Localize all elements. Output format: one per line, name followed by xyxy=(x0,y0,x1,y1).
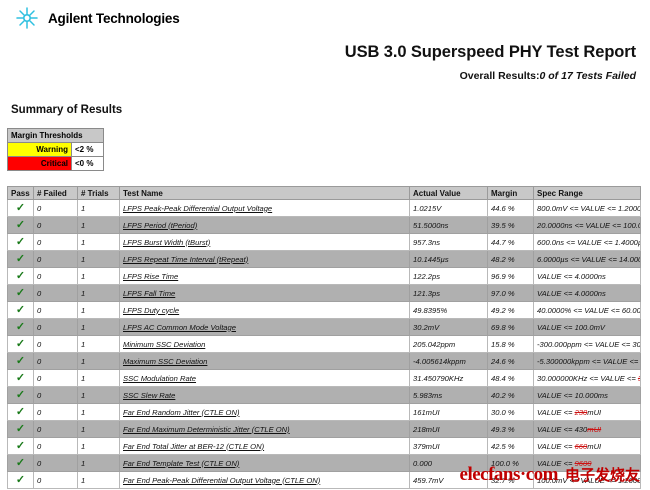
spec-range-cell: VALUE <= 100.0mV xyxy=(534,319,641,336)
test-name-cell: SSC Modulation Rate xyxy=(120,370,410,387)
actual-value-cell: -4.005614kppm xyxy=(410,353,488,370)
column-header-failed: # Failed xyxy=(34,187,78,200)
watermark-latin: elecfans·com xyxy=(460,464,558,486)
test-name-cell: LFPS Burst Width (tBurst) xyxy=(120,234,410,251)
trials-count-cell: 1 xyxy=(78,455,120,472)
actual-value-cell: 51.5000ns xyxy=(410,217,488,234)
failed-count-cell: 0 xyxy=(34,404,78,421)
green-check-icon: ✓ xyxy=(16,407,25,418)
test-name-link[interactable]: Minimum SSC Deviation xyxy=(123,340,205,349)
actual-value-cell: 5.983ms xyxy=(410,387,488,404)
table-row: ✓01LFPS Fall Time121.3ps97.0 %VALUE <= 4… xyxy=(8,285,641,302)
pass-cell: ✓ xyxy=(8,302,34,319)
legend-row-warning: Warning <2 % xyxy=(8,143,104,157)
margin-cell: 30.0 % xyxy=(488,404,534,421)
failed-count-cell: 0 xyxy=(34,251,78,268)
spec-range-cell: VALUE <= 430mUI xyxy=(534,421,641,438)
pass-cell: ✓ xyxy=(8,251,34,268)
margin-cell: 48.4 % xyxy=(488,370,534,387)
green-check-icon: ✓ xyxy=(16,441,25,452)
trials-count-cell: 1 xyxy=(78,421,120,438)
actual-value-cell: 1.0215V xyxy=(410,200,488,217)
table-row: ✓01Far End Total Jitter at BER-12 (CTLE … xyxy=(8,438,641,455)
margin-thresholds-legend: Margin Thresholds Warning <2 % Critical … xyxy=(7,128,104,171)
spec-range-struck-value: mUI xyxy=(587,425,601,434)
pass-cell: ✓ xyxy=(8,387,34,404)
trials-count-cell: 1 xyxy=(78,472,120,489)
test-name-link[interactable]: Far End Template Test (CTLE ON) xyxy=(123,459,239,468)
test-name-cell: SSC Slew Rate xyxy=(120,387,410,404)
actual-value-cell: 49.8395% xyxy=(410,302,488,319)
test-name-cell: LFPS Fall Time xyxy=(120,285,410,302)
column-header-spec-range: Spec Range xyxy=(534,187,641,200)
spec-range-cell: VALUE <= 4.0000ns xyxy=(534,268,641,285)
agilent-starburst-icon xyxy=(14,5,40,31)
failed-count-cell: 0 xyxy=(34,234,78,251)
legend-critical-label: Critical xyxy=(8,157,72,171)
spec-range-cell: VALUE <= 660mUI xyxy=(534,438,641,455)
spec-range-cell: VALUE <= 4.0000ns xyxy=(534,285,641,302)
failed-count-cell: 0 xyxy=(34,336,78,353)
test-name-cell: LFPS Duty cycle xyxy=(120,302,410,319)
test-name-link[interactable]: LFPS AC Common Mode Voltage xyxy=(123,323,236,332)
spec-range-cell: 30.000000KHz <= VALUE <= 33.000000KHz xyxy=(534,370,641,387)
overall-results-value: 0 of 17 Tests Failed xyxy=(540,70,636,82)
column-header-margin: Margin xyxy=(488,187,534,200)
failed-count-cell: 0 xyxy=(34,200,78,217)
spec-range-cell: 600.0ns <= VALUE <= 1.4000µs xyxy=(534,234,641,251)
green-check-icon: ✓ xyxy=(16,203,25,214)
actual-value-cell: 122.2ps xyxy=(410,268,488,285)
failed-count-cell: 0 xyxy=(34,319,78,336)
test-name-cell: LFPS Rise Time xyxy=(120,268,410,285)
spec-range-cell: 6.0000µs <= VALUE <= 14.0000µs xyxy=(534,251,641,268)
table-row: ✓01Minimum SSC Deviation205.042ppm15.8 %… xyxy=(8,336,641,353)
results-body: ✓01LFPS Peak-Peak Differential Output Vo… xyxy=(8,200,641,489)
actual-value-cell: 31.450790KHz xyxy=(410,370,488,387)
trials-count-cell: 1 xyxy=(78,353,120,370)
column-header-actual-value: Actual Value xyxy=(410,187,488,200)
failed-count-cell: 0 xyxy=(34,438,78,455)
trials-count-cell: 1 xyxy=(78,268,120,285)
test-name-cell: Far End Total Jitter at BER-12 (CTLE ON) xyxy=(120,438,410,455)
legend-title: Margin Thresholds xyxy=(8,129,104,143)
table-row: ✓01SSC Slew Rate5.983ms40.2 %VALUE <= 10… xyxy=(8,387,641,404)
pass-cell: ✓ xyxy=(8,336,34,353)
table-row: ✓01LFPS Repeat Time Interval (tRepeat)10… xyxy=(8,251,641,268)
column-header-test-name: Test Name xyxy=(120,187,410,200)
legend-critical-value: <0 % xyxy=(72,157,104,171)
margin-cell: 44.7 % xyxy=(488,234,534,251)
pass-cell: ✓ xyxy=(8,217,34,234)
margin-cell: 42.5 % xyxy=(488,438,534,455)
green-check-icon: ✓ xyxy=(16,305,25,316)
spec-range-cell: 800.0mV <= VALUE <= 1.2000V xyxy=(534,200,641,217)
trials-count-cell: 1 xyxy=(78,285,120,302)
margin-cell: 39.5 % xyxy=(488,217,534,234)
pass-cell: ✓ xyxy=(8,438,34,455)
pass-cell: ✓ xyxy=(8,285,34,302)
pass-cell: ✓ xyxy=(8,319,34,336)
spec-range-cell: VALUE <= 10.000ms xyxy=(534,387,641,404)
spec-range-cell: 20.0000ns <= VALUE <= 100.0000ns xyxy=(534,217,641,234)
actual-value-cell: 10.1445µs xyxy=(410,251,488,268)
failed-count-cell: 0 xyxy=(34,285,78,302)
brand-name: Agilent Technologies xyxy=(48,11,180,26)
overall-results-label: Overall Results: xyxy=(460,70,540,82)
failed-count-cell: 0 xyxy=(34,302,78,319)
margin-cell: 49.3 % xyxy=(488,421,534,438)
table-row: ✓01Maximum SSC Deviation-4.005614kppm24.… xyxy=(8,353,641,370)
table-row: ✓01LFPS AC Common Mode Voltage30.2mV69.8… xyxy=(8,319,641,336)
table-row: ✓01LFPS Burst Width (tBurst)957.3ns44.7 … xyxy=(8,234,641,251)
column-header-pass: Pass xyxy=(8,187,34,200)
actual-value-cell: 205.042ppm xyxy=(410,336,488,353)
spec-range-cell: -5.300000kppm <= VALUE <= -5.700000kppm xyxy=(534,353,641,370)
test-name-cell: Minimum SSC Deviation xyxy=(120,336,410,353)
test-name-link[interactable]: Far End Maximum Deterministic Jitter (CT… xyxy=(123,425,290,434)
trials-count-cell: 1 xyxy=(78,234,120,251)
pass-cell: ✓ xyxy=(8,472,34,489)
test-name-link[interactable]: LFPS Period (tPeriod) xyxy=(123,221,197,230)
legend-row-critical: Critical <0 % xyxy=(8,157,104,171)
test-name-link[interactable]: SSC Modulation Rate xyxy=(123,374,196,383)
green-check-icon: ✓ xyxy=(16,220,25,231)
green-check-icon: ✓ xyxy=(16,475,25,486)
table-row: ✓01LFPS Period (tPeriod)51.5000ns39.5 %2… xyxy=(8,217,641,234)
spec-range-struck-value: 660 xyxy=(575,442,588,451)
pass-cell: ✓ xyxy=(8,234,34,251)
failed-count-cell: 0 xyxy=(34,387,78,404)
watermark-chinese: 电子发烧友 xyxy=(565,464,640,485)
margin-cell: 44.6 % xyxy=(488,200,534,217)
trials-count-cell: 1 xyxy=(78,370,120,387)
trials-count-cell: 1 xyxy=(78,336,120,353)
trials-count-cell: 1 xyxy=(78,319,120,336)
table-row: ✓01Far End Random Jitter (CTLE ON)161mUI… xyxy=(8,404,641,421)
test-name-link[interactable]: Maximum SSC Deviation xyxy=(123,357,207,366)
trials-count-cell: 1 xyxy=(78,438,120,455)
actual-value-cell: 161mUI xyxy=(410,404,488,421)
test-name-link[interactable]: LFPS Fall Time xyxy=(123,289,175,298)
pass-cell: ✓ xyxy=(8,370,34,387)
results-header-row: Pass # Failed # Trials Test Name Actual … xyxy=(8,187,641,200)
legend-warning-value: <2 % xyxy=(72,143,104,157)
test-name-link[interactable]: LFPS Peak-Peak Differential Output Volta… xyxy=(123,204,272,213)
actual-value-cell: 121.3ps xyxy=(410,285,488,302)
test-name-link[interactable]: LFPS Duty cycle xyxy=(123,306,179,315)
trials-count-cell: 1 xyxy=(78,404,120,421)
test-name-link[interactable]: SSC Slew Rate xyxy=(123,391,175,400)
pass-cell: ✓ xyxy=(8,421,34,438)
actual-value-cell: 30.2mV xyxy=(410,319,488,336)
green-check-icon: ✓ xyxy=(16,458,25,469)
actual-value-cell: 379mUI xyxy=(410,438,488,455)
spec-range-struck-value: 33.000000KHz xyxy=(638,374,641,383)
margin-cell: 24.6 % xyxy=(488,353,534,370)
pass-cell: ✓ xyxy=(8,353,34,370)
test-name-cell: Far End Random Jitter (CTLE ON) xyxy=(120,404,410,421)
green-check-icon: ✓ xyxy=(16,339,25,350)
test-name-cell: Far End Peak-Peak Differential Output Vo… xyxy=(120,472,410,489)
pass-cell: ✓ xyxy=(8,268,34,285)
trials-count-cell: 1 xyxy=(78,200,120,217)
margin-cell: 97.0 % xyxy=(488,285,534,302)
margin-cell: 69.8 % xyxy=(488,319,534,336)
table-row: ✓01Far End Maximum Deterministic Jitter … xyxy=(8,421,641,438)
test-name-link[interactable]: LFPS Rise Time xyxy=(123,272,178,281)
margin-cell: 48.2 % xyxy=(488,251,534,268)
test-name-link[interactable]: Far End Total Jitter at BER-12 (CTLE ON) xyxy=(123,442,264,451)
green-check-icon: ✓ xyxy=(16,322,25,333)
test-name-cell: LFPS Peak-Peak Differential Output Volta… xyxy=(120,200,410,217)
legend-warning-label: Warning xyxy=(8,143,72,157)
margin-cell: 15.8 % xyxy=(488,336,534,353)
test-name-cell: Maximum SSC Deviation xyxy=(120,353,410,370)
pass-cell: ✓ xyxy=(8,404,34,421)
failed-count-cell: 0 xyxy=(34,353,78,370)
trials-count-cell: 1 xyxy=(78,302,120,319)
green-check-icon: ✓ xyxy=(16,424,25,435)
pass-cell: ✓ xyxy=(8,200,34,217)
green-check-icon: ✓ xyxy=(16,390,25,401)
failed-count-cell: 0 xyxy=(34,370,78,387)
spec-range-cell: 40.0000% <= VALUE <= 60.0000% xyxy=(534,302,641,319)
table-row: ✓01LFPS Peak-Peak Differential Output Vo… xyxy=(8,200,641,217)
failed-count-cell: 0 xyxy=(34,455,78,472)
test-name-cell: LFPS Period (tPeriod) xyxy=(120,217,410,234)
green-check-icon: ✓ xyxy=(16,254,25,265)
margin-cell: 40.2 % xyxy=(488,387,534,404)
column-header-trials: # Trials xyxy=(78,187,120,200)
green-check-icon: ✓ xyxy=(16,288,25,299)
pass-cell: ✓ xyxy=(8,455,34,472)
overall-results: Overall Results:0 of 17 Tests Failed xyxy=(0,70,636,82)
section-title: Summary of Results xyxy=(11,104,122,116)
actual-value-cell: 957.3ns xyxy=(410,234,488,251)
table-row: ✓01SSC Modulation Rate31.450790KHz48.4 %… xyxy=(8,370,641,387)
test-name-link[interactable]: LFPS Repeat Time Interval (tRepeat) xyxy=(123,255,248,264)
margin-cell: 96.9 % xyxy=(488,268,534,285)
table-row: ✓01LFPS Rise Time122.2ps96.9 %VALUE <= 4… xyxy=(8,268,641,285)
green-check-icon: ✓ xyxy=(16,271,25,282)
green-check-icon: ✓ xyxy=(16,237,25,248)
page-title: USB 3.0 Superspeed PHY Test Report xyxy=(0,43,636,62)
test-name-link[interactable]: Far End Random Jitter (CTLE ON) xyxy=(123,408,239,417)
failed-count-cell: 0 xyxy=(34,217,78,234)
test-name-cell: LFPS AC Common Mode Voltage xyxy=(120,319,410,336)
test-name-cell: LFPS Repeat Time Interval (tRepeat) xyxy=(120,251,410,268)
spec-range-struck-value: 230 xyxy=(575,408,588,417)
failed-count-cell: 0 xyxy=(34,472,78,489)
failed-count-cell: 0 xyxy=(34,268,78,285)
spec-range-cell: VALUE <= 230mUI xyxy=(534,404,641,421)
green-check-icon: ✓ xyxy=(16,373,25,384)
brand-header: Agilent Technologies xyxy=(14,5,180,31)
actual-value-cell: 218mUI xyxy=(410,421,488,438)
watermark: elecfans·com 电子发烧友 xyxy=(460,464,640,486)
legend-header-row: Margin Thresholds xyxy=(8,129,104,143)
trials-count-cell: 1 xyxy=(78,217,120,234)
trials-count-cell: 1 xyxy=(78,251,120,268)
failed-count-cell: 0 xyxy=(34,421,78,438)
test-name-link[interactable]: Far End Peak-Peak Differential Output Vo… xyxy=(123,476,320,485)
test-name-cell: Far End Maximum Deterministic Jitter (CT… xyxy=(120,421,410,438)
spec-range-cell: -300.000ppm <= VALUE <= 300.000ppm xyxy=(534,336,641,353)
table-row: ✓01LFPS Duty cycle49.8395%49.2 %40.0000%… xyxy=(8,302,641,319)
green-check-icon: ✓ xyxy=(16,356,25,367)
test-name-cell: Far End Template Test (CTLE ON) xyxy=(120,455,410,472)
results-table: Pass # Failed # Trials Test Name Actual … xyxy=(7,186,641,489)
margin-cell: 49.2 % xyxy=(488,302,534,319)
report-page: Agilent Technologies USB 3.0 Superspeed … xyxy=(0,0,650,490)
test-name-link[interactable]: LFPS Burst Width (tBurst) xyxy=(123,238,210,247)
trials-count-cell: 1 xyxy=(78,387,120,404)
